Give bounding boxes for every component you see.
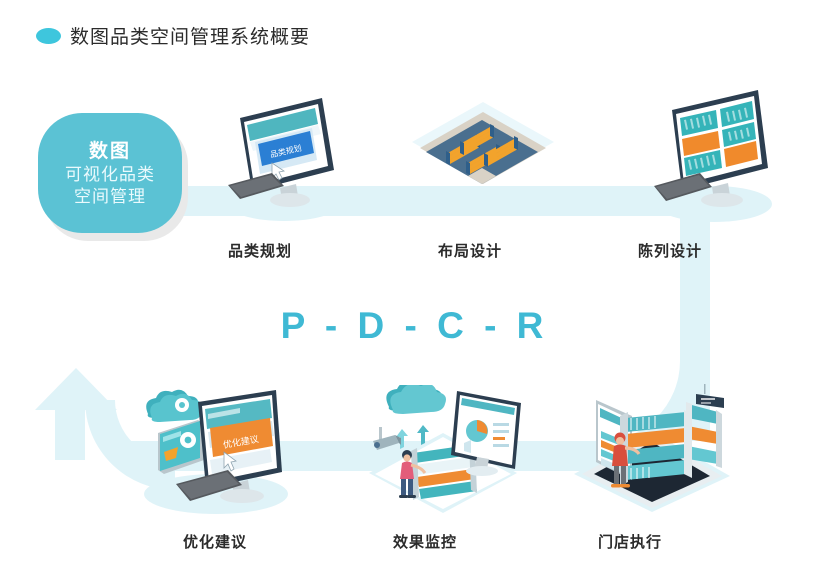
header: 数图品类空间管理系统概要 [0,0,829,70]
step-label-effect-monitoring[interactable]: 效果监控 [365,531,485,552]
cycle-acronym: P - D - C - R [0,305,829,347]
step-label-store-execution[interactable]: 门店执行 [570,531,690,552]
step-label-category-planning[interactable]: 品类规划 [200,240,320,261]
illustration-optimization-advice: 优化建议 [136,388,291,518]
step-label-layout-design[interactable]: 布局设计 [410,240,530,261]
ellipse-bullet-icon [36,28,61,44]
page-title: 数图品类空间管理系统概要 [70,22,310,49]
infographic-canvas: 数图品类空间管理系统概要 数图 可视化品类 空间管理 品类规划 [0,0,829,575]
illustration-store-execution [570,382,735,517]
step-label-optimization-advice[interactable]: 优化建议 [155,531,275,552]
illustration-display-design [650,88,775,228]
hero-subtitle-line2: 空间管理 [74,186,146,208]
illustration-category-planning: 品类规划 [222,92,342,227]
hero-subtitle-line1: 可视化品类 [65,164,155,186]
step-label-display-design[interactable]: 陈列设计 [610,240,730,261]
illustration-effect-monitoring [365,385,525,520]
hero-brand: 数图 [89,140,131,164]
flow-arrow-up-icon [35,368,117,410]
hero-badge[interactable]: 数图 可视化品类 空间管理 [38,113,182,233]
illustration-layout-design [408,98,558,228]
